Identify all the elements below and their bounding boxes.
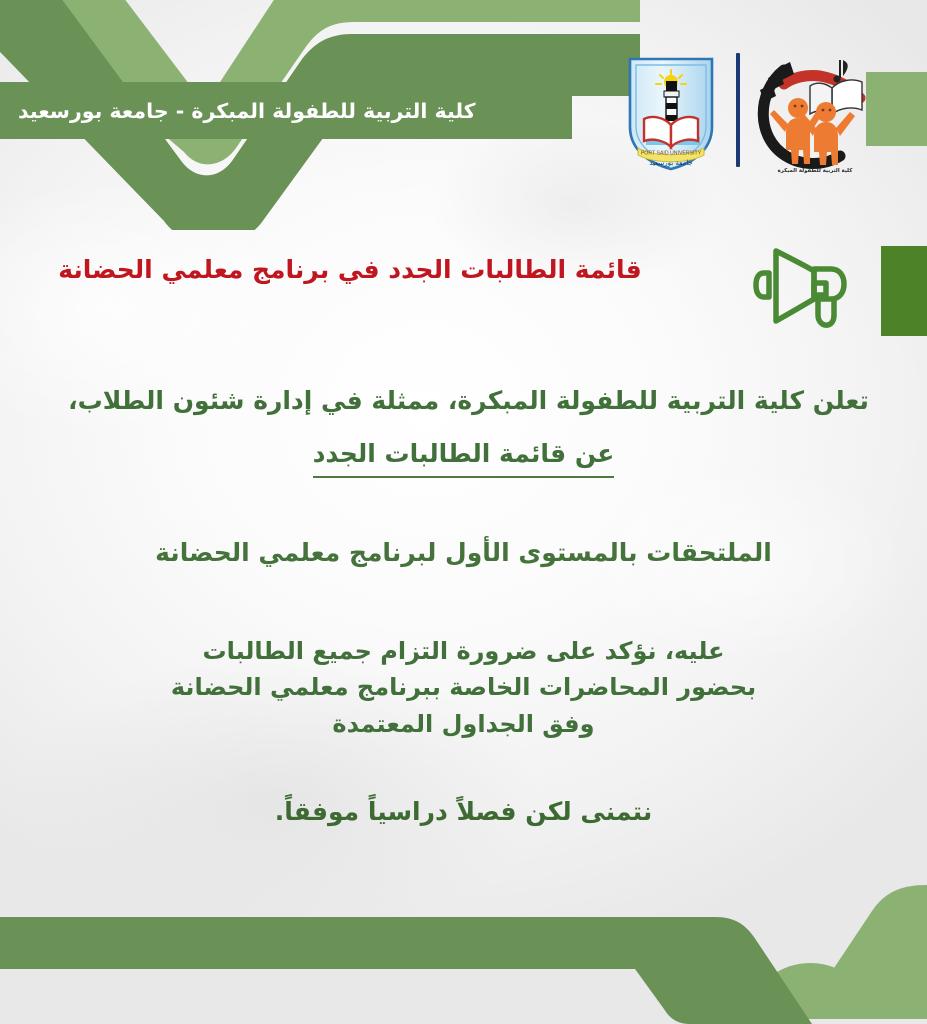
- header-band: كلية التربية للطفولة المبكرة - جامعة بور…: [0, 82, 572, 139]
- announcement-poster: كلية التربية للطفولة المبكرة - جامعة بور…: [0, 0, 927, 1024]
- port-said-university-seal: PORT SAID UNIVERSITY جامعة بورسعيد: [622, 53, 720, 173]
- header-band-title: كلية التربية للطفولة المبكرة - جامعة بور…: [0, 99, 476, 123]
- bottom-decoration: [0, 859, 927, 1024]
- megaphone-icon: [752, 243, 852, 329]
- logo-divider: [736, 53, 740, 167]
- svg-text:PORT SAID UNIVERSITY: PORT SAID UNIVERSITY: [641, 150, 702, 156]
- intro-paragraph: تعلن كلية التربية للطفولة المبكرة، ممثلة…: [0, 388, 927, 478]
- svg-text:جامعة بورسعيد: جامعة بورسعيد: [649, 159, 693, 167]
- college-logo-caption: كلية التربية للطفولة المبكرة: [754, 168, 876, 174]
- commitment-paragraph: عليه، نؤكد على ضرورة التزام جميع الطالبا…: [0, 633, 927, 742]
- page-title: قائمة الطالبات الجدد في برنامج معلمي الح…: [0, 255, 700, 284]
- right-accent-block: [881, 246, 927, 336]
- announcement-body: تعلن كلية التربية للطفولة المبكرة، ممثلة…: [0, 388, 927, 826]
- intro-line-2-underlined: عن قائمة الطالبات الجدد: [313, 441, 615, 478]
- commit-line-1: عليه، نؤكد على ضرورة التزام جميع الطالبا…: [0, 633, 927, 669]
- commit-line-3: وفق الجداول المعتمدة: [0, 706, 927, 742]
- level-line: الملتحقات بالمستوى الأول لبرنامج معلمي ا…: [0, 538, 927, 567]
- college-logo: كلية التربية للطفولة المبكرة: [754, 54, 876, 172]
- logo-group: كلية التربية للطفولة المبكرة: [586, 50, 876, 175]
- commit-line-2: بحضور المحاضرات الخاصة ببرنامج معلمي الح…: [0, 669, 927, 705]
- closing-line: نتمنى لكن فصلاً دراسياً موفقاً.: [0, 797, 927, 826]
- intro-line-1: تعلن كلية التربية للطفولة المبكرة، ممثلة…: [0, 388, 927, 413]
